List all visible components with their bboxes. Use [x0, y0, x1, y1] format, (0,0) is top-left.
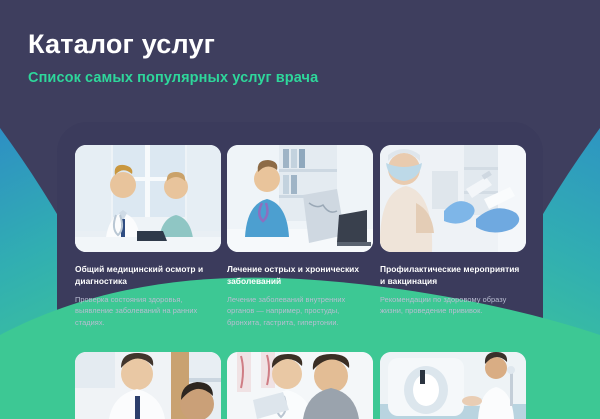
page-subtitle: Список самых популярных услуг врача [28, 70, 318, 87]
service-card-image[interactable] [380, 352, 526, 419]
page-title: Каталог услуг [28, 30, 318, 60]
service-card-image[interactable] [227, 352, 373, 419]
service-card-image[interactable] [75, 352, 221, 419]
page-header: Каталог услуг Список самых популярных ус… [28, 30, 318, 87]
slide-canvas: Каталог услуг Список самых популярных ус… [0, 0, 600, 419]
